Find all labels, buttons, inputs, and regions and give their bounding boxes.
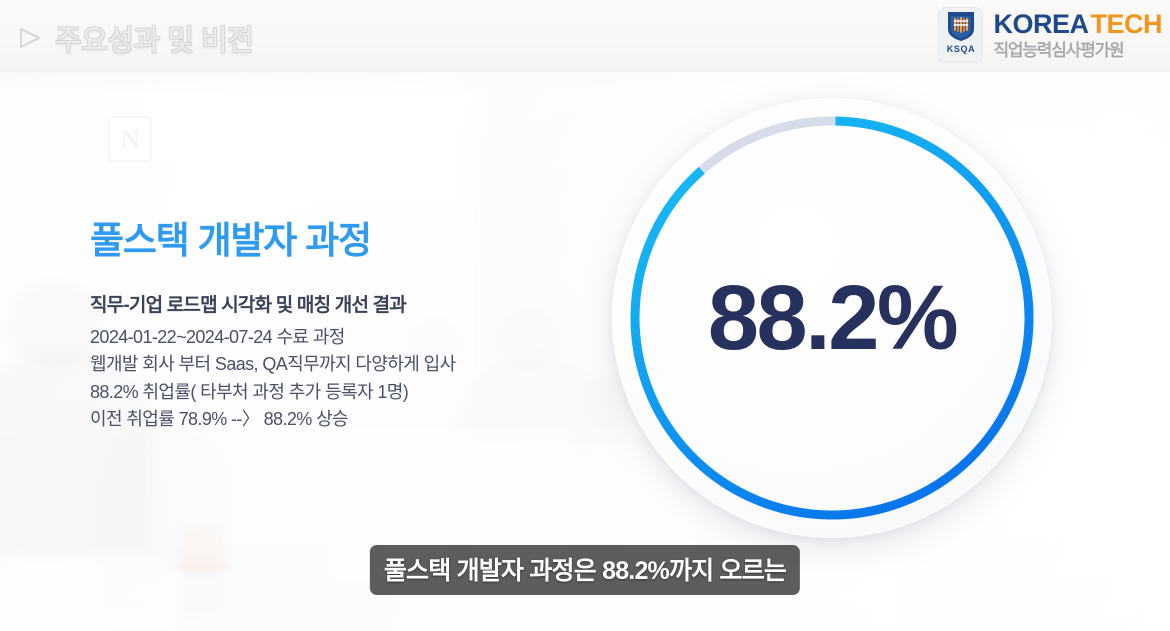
logo-wordmark: KOREA TECH <box>993 11 1162 38</box>
employment-rate-gauge: 88.2% <box>612 98 1052 538</box>
slide-content: 풀스택 개발자 과정 직무-기업 로드맵 시각화 및 매칭 개선 결과 2024… <box>90 210 610 433</box>
detail-heading: 직무-기업 로드맵 시각화 및 매칭 개선 결과 <box>90 290 610 317</box>
ksqa-mark-label: KSQA <box>947 44 975 54</box>
gauge-value-label: 88.2% <box>612 98 1052 538</box>
subtitle-caption-text: 풀스택 개발자 과정은 88.2%까지 오르는 <box>384 557 786 585</box>
detail-line: 2024-01-22~2024-07-24 수료 과정 <box>90 324 610 351</box>
detail-line: 이전 취업률 78.9% --〉 88.2% 상승 <box>90 406 610 433</box>
organization-logo: KSQA KOREA TECH 직업능력심사평가원 <box>938 7 1162 63</box>
logo-subtitle: 직업능력심사평가원 <box>993 42 1162 59</box>
presentation-slide: N 주요성과 및 비전 <box>0 0 1170 631</box>
logo-wordmark-tech: TECH <box>1091 11 1163 38</box>
logo-wordmark-korea: KOREA <box>993 11 1088 38</box>
logo-text-group: KOREA TECH 직업능력심사평가원 <box>993 11 1162 59</box>
header-title-group: 주요성과 및 비전 <box>16 17 253 59</box>
ksqa-logo-mark: KSQA <box>938 7 983 63</box>
detail-line: 웹개발 회사 부터 Saas, QA직무까지 다양하게 입사 <box>90 351 610 378</box>
slide-header: 주요성과 및 비전 KSQA <box>0 0 1170 72</box>
ksqa-shield-icon <box>946 10 976 42</box>
detail-line: 88.2% 취업률( 타부처 과정 추가 등록자 1명) <box>90 379 610 406</box>
subtitle-caption-box: 풀스택 개발자 과정은 88.2%까지 오르는 <box>370 545 800 595</box>
page-title: 주요성과 및 비전 <box>55 17 253 59</box>
course-title: 풀스택 개발자 과정 <box>90 210 610 264</box>
play-triangle-icon <box>16 25 42 51</box>
